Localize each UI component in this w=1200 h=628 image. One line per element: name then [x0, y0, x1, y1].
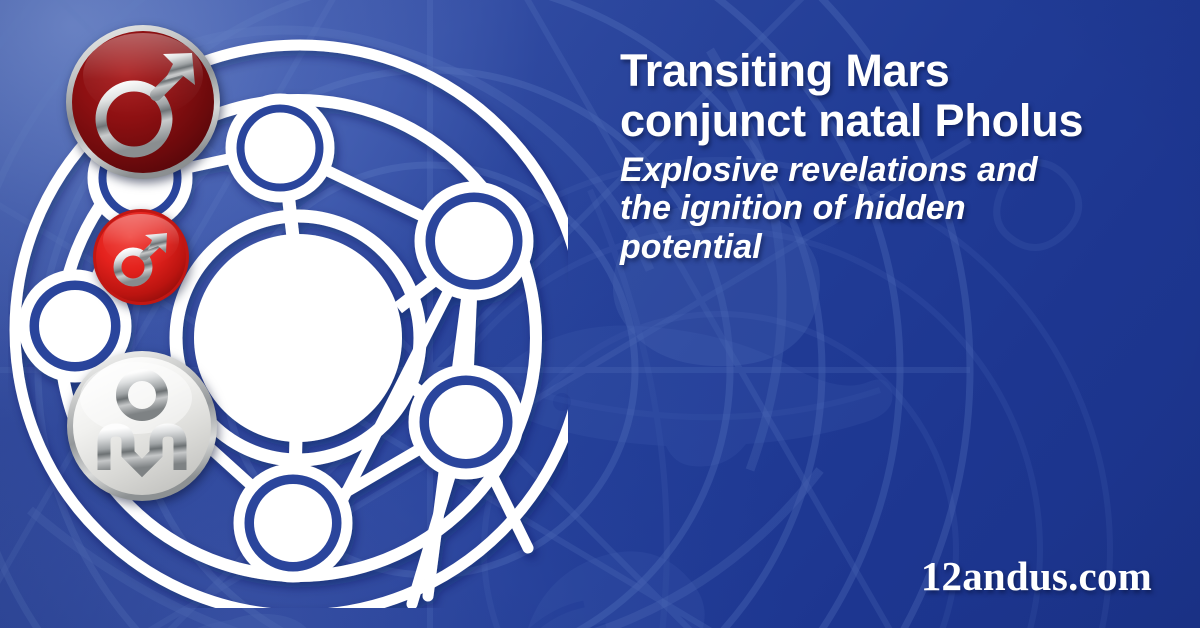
promo-banner: Transiting Mars conjunct natal Pholus Ex… [0, 0, 1200, 628]
mars-glyph-small-icon [92, 208, 190, 306]
node-upper-right [420, 187, 528, 295]
pholus-token[interactable] [66, 350, 218, 502]
subtitle-line-2: the ignition of hidden [620, 189, 1168, 227]
mars-glyph-icon [64, 23, 222, 181]
node-lower-right [414, 370, 518, 474]
headline-line-1: Transiting Mars [620, 46, 1168, 96]
pholus-glyph-icon [66, 350, 218, 502]
mars-token[interactable] [64, 23, 222, 181]
page-title: Transiting Mars conjunct natal Pholus [620, 46, 1168, 145]
subtitle-line-1: Explosive revelations and [620, 151, 1168, 189]
headline-block: Transiting Mars conjunct natal Pholus Ex… [620, 46, 1168, 266]
node-bottom [239, 469, 347, 577]
headline-line-2: conjunct natal Pholus [620, 96, 1168, 146]
wheel-central-disc [194, 234, 402, 442]
mars-small-token[interactable] [92, 208, 190, 306]
site-brand[interactable]: 12andus.com [921, 552, 1152, 600]
subtitle: Explosive revelations and the ignition o… [620, 151, 1168, 266]
node-top [231, 99, 329, 197]
subtitle-line-3: potential [620, 228, 1168, 266]
